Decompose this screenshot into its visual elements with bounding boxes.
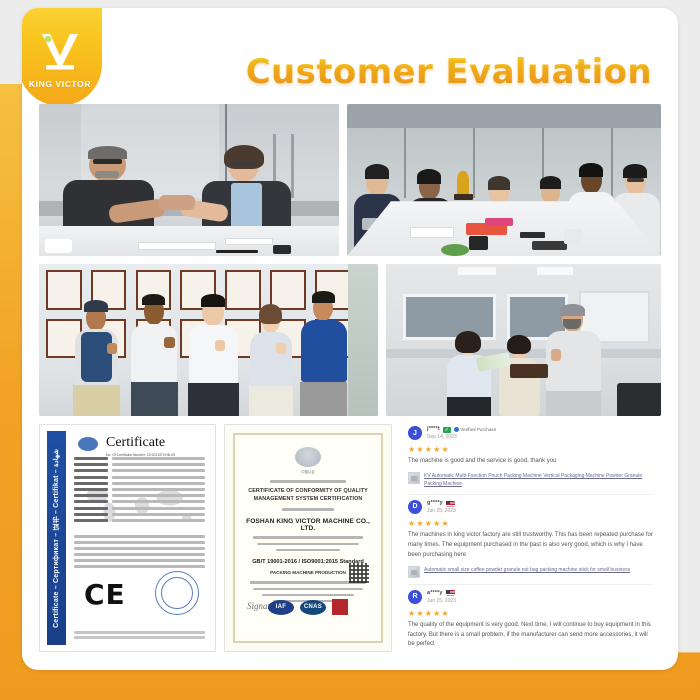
verified-dot-icon	[454, 427, 459, 432]
divider	[408, 494, 653, 495]
review-item: D g****y Jun 25, 2023 ★★★★★ The machines…	[408, 500, 659, 578]
verified-purchase-label: Verified Purchase	[454, 427, 497, 433]
iaf-badge-icon: IAF	[268, 600, 294, 615]
review-text: The machines in king victor factory are …	[408, 531, 659, 561]
reviewer-name: a****y	[427, 590, 443, 597]
cnas-badge-icon: CNAS	[300, 600, 326, 615]
country-flag-us-icon	[446, 590, 455, 596]
header: KING VICTOR Customer Evaluation	[22, 8, 678, 104]
review-text: The quality of the equipment is very goo…	[408, 621, 659, 651]
brand-logo[interactable]: KING VICTOR	[22, 8, 102, 106]
iso-seal-icon	[295, 447, 321, 467]
certificate-ce-footer	[74, 631, 205, 641]
certificate-iso-header: CERTIFICATE OF CONFORMITY OF QUALITY MAN…	[244, 487, 372, 503]
avatar: R	[408, 590, 422, 604]
certificate-ce-fields	[74, 457, 205, 525]
review-date: Sep 14, 2023	[427, 434, 496, 441]
certificate-ce[interactable]: Certificate – Сертификат – 证书 – Certifik…	[39, 424, 216, 652]
photo-grid	[22, 104, 678, 416]
divider	[408, 584, 653, 585]
reviewer-name: g****y	[427, 500, 443, 507]
photo-certificate-wall[interactable]	[39, 264, 378, 416]
certificate-ce-title: Certificate	[106, 435, 165, 451]
avatar: D	[408, 500, 422, 514]
content-card: KING VICTOR Customer Evaluation	[22, 8, 678, 670]
verified-badge-icon: ✓	[443, 427, 451, 433]
review-product-link[interactable]: KV Automatic Multi-Function Pouch Packin…	[408, 472, 659, 488]
star-rating: ★★★★★	[408, 519, 659, 528]
certificate-iso[interactable]: 中国认证 CERTIFICATE OF CONFORMITY OF QUALIT…	[224, 424, 392, 652]
certificate-ce-stamp-icon	[155, 571, 199, 615]
reviewer-name: j****t	[427, 426, 440, 433]
page-root: KING VICTOR Customer Evaluation	[0, 0, 700, 700]
star-rating: ★★★★★	[408, 445, 659, 454]
certificate-ce-sidebar-text: Certificate – Сертификат – 证书 – Certifik…	[52, 449, 62, 628]
photo-handshake[interactable]	[39, 104, 339, 256]
certificate-iso-company: FOSHAN KING VICTOR MACHINE CO., LTD.	[244, 518, 372, 532]
review-date: Jun 25, 2023	[427, 508, 456, 515]
review-product-link[interactable]: Automatic small size coffee powder granu…	[408, 566, 659, 578]
review-item: J j****t ✓ Verified Purchase Sep 14, 202	[408, 426, 659, 488]
page-title: Customer Evaluation	[246, 52, 652, 92]
product-link-text[interactable]: Automatic small size coffee powder granu…	[424, 566, 638, 574]
certificate-ce-paragraph	[74, 535, 205, 571]
certificate-ce-sidebar: Certificate – Сертификат – 证书 – Certifik…	[47, 431, 66, 645]
review-date: Jun 15, 2023	[427, 598, 456, 605]
iso-seal-caption: 中国认证	[244, 469, 372, 474]
photo-row-1	[39, 104, 661, 256]
certificate-iso-qr-icon	[349, 563, 369, 583]
product-link-text[interactable]: KV Automatic Multi-Function Pouch Packin…	[424, 472, 659, 488]
country-flag-us-icon	[446, 501, 455, 507]
star-rating: ★★★★★	[408, 609, 659, 618]
reviews-panel: J j****t ✓ Verified Purchase Sep 14, 202	[400, 424, 661, 652]
king-victor-v-mark-icon	[34, 30, 86, 76]
bottom-section: Certificate – Сертификат – 证书 – Certifik…	[22, 424, 678, 662]
photo-meeting-room[interactable]	[347, 104, 661, 256]
ce-issuer-logo-icon	[78, 437, 98, 451]
product-thumbnail-icon	[408, 566, 420, 578]
photo-row-2	[39, 264, 661, 416]
certificate-iso-badges: IAF CNAS	[235, 599, 381, 615]
review-item: R a****y Jun 15, 2023 ★★★★★ The quality …	[408, 590, 659, 651]
review-text: The machine is good and the service is g…	[408, 457, 659, 467]
avatar: J	[408, 426, 422, 440]
ce-mark-logo: CE	[84, 578, 126, 611]
photo-cash-handover[interactable]	[386, 264, 661, 416]
brand-logo-text: KING VICTOR	[29, 79, 91, 89]
product-thumbnail-icon	[408, 472, 420, 484]
